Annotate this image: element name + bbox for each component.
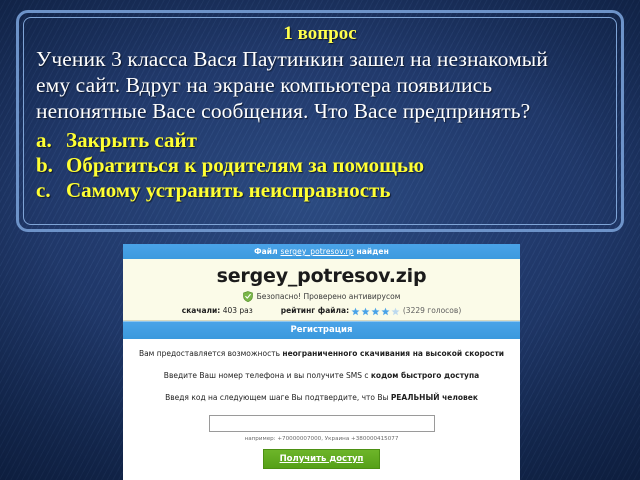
option-label: Самому устранить неисправность (66, 178, 390, 203)
question-option-b[interactable]: b. Обратиться к родителям за помощью (36, 153, 604, 178)
file-info-panel: sergey_potresov.zip Безопасно! Проверено… (123, 259, 520, 321)
votes-count: (3229 голосов) (403, 306, 461, 315)
downloads-value: 403 раз (223, 306, 253, 315)
star-empty-icon[interactable] (391, 307, 400, 316)
question-frame: 1 вопрос Ученик 3 класса Вася Паутинкин … (16, 10, 624, 232)
star-filled-icon[interactable] (361, 307, 370, 316)
get-access-label: Получить доступ (280, 454, 364, 464)
phone-number-input[interactable] (209, 415, 435, 432)
question-option-a[interactable]: a. Закрыть сайт (36, 128, 604, 153)
rating-stat: рейтинг файла: (3229 голосов) (281, 306, 462, 316)
line-3-bold: РЕАЛЬНЫЙ человек (391, 393, 478, 402)
shield-check-icon (243, 291, 253, 302)
registration-header: Регистрация (123, 321, 520, 339)
antivirus-text: Безопасно! Проверено антивирусом (257, 292, 401, 301)
file-found-prefix: Файл (254, 247, 278, 256)
line-1-plain: Вам предоставляется возможность (139, 349, 282, 358)
option-letter: a. (36, 128, 66, 153)
registration-line-1: Вам предоставляется возможность неограни… (133, 349, 510, 359)
question-options: a. Закрыть сайт b. Обратиться к родителя… (36, 128, 604, 203)
star-filled-icon[interactable] (381, 307, 390, 316)
line-2-bold: кодом быстрого доступа (371, 371, 479, 380)
question-body: Ученик 3 класса Вася Паутинкин зашел на … (36, 46, 604, 124)
file-found-bar: Файл sergey_potresov.rp найден (123, 244, 520, 259)
question-title: 1 вопрос (36, 23, 604, 45)
star-filled-icon[interactable] (371, 307, 380, 316)
option-label: Обратиться к родителям за помощью (66, 153, 424, 178)
file-stats-row: скачали: 403 раз рейтинг файла: (3229 го… (123, 306, 520, 316)
option-letter: b. (36, 153, 66, 178)
slide-background: 1 вопрос Ученик 3 класса Вася Паутинкин … (0, 0, 640, 480)
question-body-line: Ученик 3 класса Вася Паутинкин зашел на … (36, 46, 604, 72)
registration-body: Вам предоставляется возможность неограни… (123, 339, 520, 469)
line-1-bold: неограниченного скачивания на высокой ск… (282, 349, 504, 358)
downloads-stat: скачали: 403 раз (182, 306, 253, 315)
downloads-label: скачали: (182, 306, 221, 315)
rating-stars[interactable] (351, 307, 400, 316)
file-found-suffix: найден (356, 247, 388, 256)
line-3-plain: Введя код на следующем шаге Вы подтверди… (165, 393, 391, 402)
question-inner-border: 1 вопрос Ученик 3 класса Вася Паутинкин … (23, 17, 617, 225)
registration-line-2: Введите Ваш номер телефона и вы получите… (133, 371, 510, 381)
rating-label: рейтинг файла: (281, 306, 349, 315)
question-body-line: непонятные Васе сообщения. Что Васе пред… (36, 98, 604, 124)
question-option-c[interactable]: c. Самому устранить неисправность (36, 178, 604, 203)
question-body-line: ему сайт. Вдруг на экране компьютера поя… (36, 72, 604, 98)
antivirus-row: Безопасно! Проверено антивирусом (123, 291, 520, 302)
get-access-button[interactable]: Получить доступ (263, 449, 381, 469)
file-name-link[interactable]: sergey_potresov.rp (280, 247, 353, 256)
option-label: Закрыть сайт (66, 128, 197, 153)
line-2-plain: Введите Ваш номер телефона и вы получите… (164, 371, 371, 380)
file-title: sergey_potresov.zip (123, 264, 520, 288)
embedded-screenshot: Файл sergey_potresov.rp найден sergey_po… (123, 244, 520, 480)
option-letter: c. (36, 178, 66, 203)
registration-line-3: Введя код на следующем шаге Вы подтверди… (133, 393, 510, 403)
phone-format-hint: например: +70000007000, Украина +3800004… (133, 435, 510, 443)
star-filled-icon[interactable] (351, 307, 360, 316)
